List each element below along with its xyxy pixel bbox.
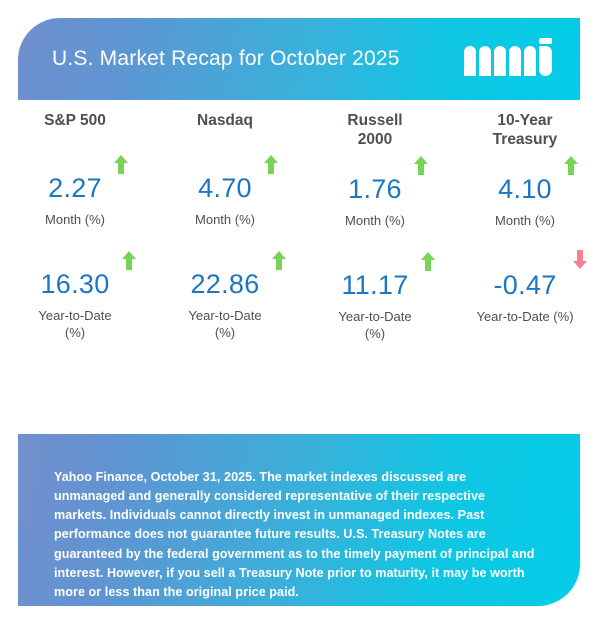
arrow-down-icon: [573, 250, 587, 269]
stat-month: 4.70 Month (%): [150, 175, 300, 229]
stat-month: 4.10 Month (%): [450, 176, 600, 230]
stat-month: 1.76 Month (%): [300, 176, 450, 230]
logo-bar: [539, 46, 552, 76]
stat-label: Year-to-Date (%): [338, 309, 411, 343]
disclaimer-banner: Yahoo Finance, October 31, 2025. The mar…: [18, 434, 580, 606]
metric-column-russell-2000: Russell 2000 1.76 Month (%) 11.17 Year-t…: [300, 112, 450, 342]
stat-label: Year-to-Date (%): [476, 309, 573, 326]
column-title: S&P 500: [44, 112, 106, 131]
stat-label: Month (%): [195, 212, 255, 229]
header-banner: U.S. Market Recap for October 2025: [18, 18, 580, 100]
stat-ytd: 11.17 Year-to-Date (%): [300, 272, 450, 343]
arrow-up-icon: [414, 156, 428, 175]
stat-label: Month (%): [345, 213, 405, 230]
stat-value: 4.70: [198, 173, 252, 203]
stat-label: Year-to-Date (%): [38, 308, 111, 342]
stat-value: 11.17: [341, 270, 408, 300]
column-title: Russell 2000: [347, 112, 402, 150]
stat-value: 22.86: [190, 269, 259, 299]
column-title: Nasdaq: [197, 112, 253, 131]
arrow-up-icon: [421, 252, 435, 271]
disclaimer-text: Yahoo Finance, October 31, 2025. The mar…: [54, 468, 536, 602]
stat-value: 16.30: [40, 269, 109, 299]
arrow-up-icon: [564, 156, 578, 175]
stat-value: 1.76: [348, 174, 402, 204]
stat-value: -0.47: [493, 270, 556, 300]
metric-column-10-year-treasury: 10-Year Treasury 4.10 Month (%) -0.47 Ye…: [450, 112, 600, 342]
stat-ytd: 16.30 Year-to-Date (%): [0, 271, 150, 342]
stat-label: Year-to-Date (%): [188, 308, 261, 342]
logo-bar: [509, 46, 521, 76]
stat-ytd: 22.86 Year-to-Date (%): [150, 271, 300, 342]
arrow-up-icon: [264, 155, 278, 174]
stat-month: 2.27 Month (%): [0, 175, 150, 229]
stat-value: 4.10: [498, 174, 552, 204]
metric-column-nasdaq: Nasdaq 4.70 Month (%) 22.86 Year-to-Date…: [150, 112, 300, 342]
logo-bar: [464, 46, 476, 76]
mmi-logo-icon: [464, 42, 552, 76]
arrow-up-icon: [114, 155, 128, 174]
stat-value: 2.27: [48, 173, 102, 203]
logo-bar: [494, 46, 506, 76]
stat-label: Month (%): [45, 212, 105, 229]
metric-column-sp500: S&P 500 2.27 Month (%) 16.30 Year-to-Dat…: [0, 112, 150, 342]
stat-label: Month (%): [495, 213, 555, 230]
page-title: U.S. Market Recap for October 2025: [52, 47, 400, 71]
column-title: 10-Year Treasury: [493, 112, 558, 150]
metrics-grid: S&P 500 2.27 Month (%) 16.30 Year-to-Dat…: [0, 112, 600, 342]
logo-bar: [479, 46, 491, 76]
logo-bar: [524, 46, 536, 76]
stat-ytd: -0.47 Year-to-Date (%): [450, 272, 600, 326]
arrow-up-icon: [122, 251, 136, 270]
arrow-up-icon: [272, 251, 286, 270]
